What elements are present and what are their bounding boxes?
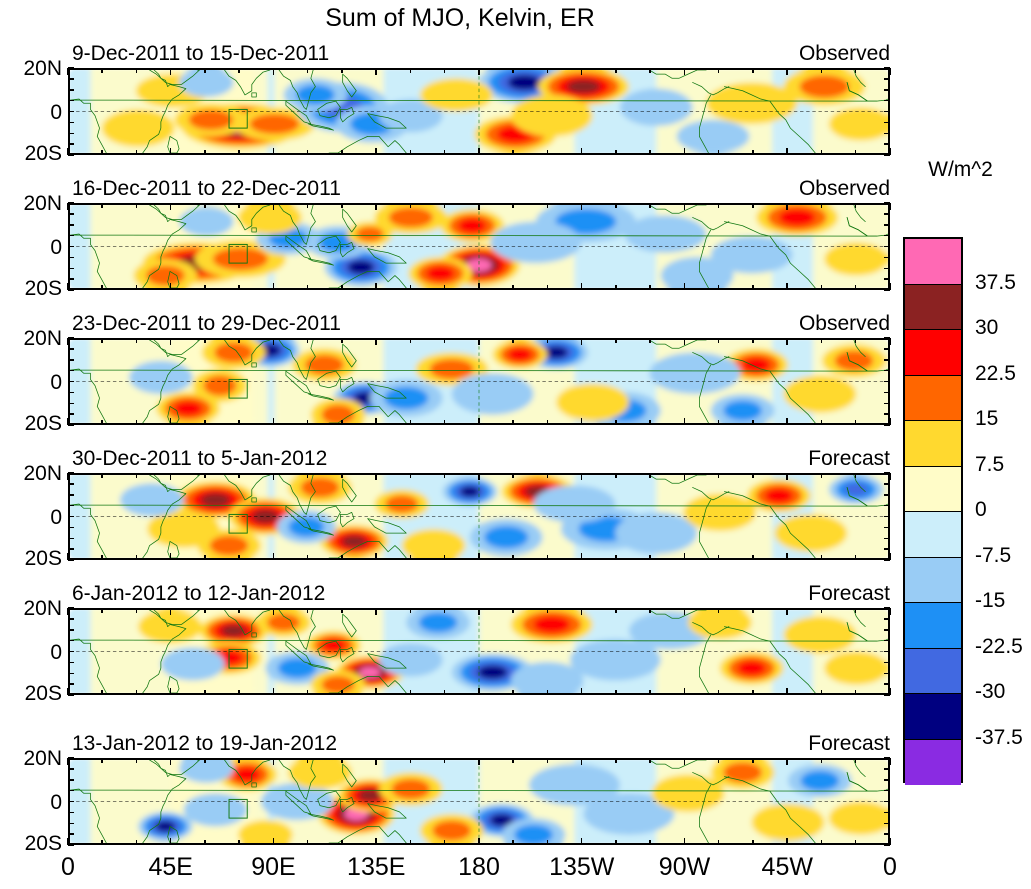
axis-tick xyxy=(341,555,343,560)
axis-tick xyxy=(855,203,857,208)
axis-tick xyxy=(68,268,74,270)
axis-tick xyxy=(512,608,514,613)
axis-tick xyxy=(238,608,240,613)
axis-tick xyxy=(68,100,74,102)
axis-tick xyxy=(512,473,514,478)
axis-tick xyxy=(884,289,890,291)
axis-tick xyxy=(68,370,74,372)
colorbar xyxy=(903,237,963,783)
axis-tick xyxy=(547,840,549,845)
y-axis-tick-label: 20S xyxy=(25,833,62,854)
axis-tick xyxy=(884,694,890,696)
axis-tick xyxy=(684,553,686,560)
axis-tick xyxy=(752,68,754,73)
axis-tick xyxy=(752,473,754,478)
axis-tick xyxy=(341,68,343,73)
axis-tick xyxy=(136,285,138,290)
axis-tick xyxy=(68,213,74,215)
axis-tick xyxy=(68,779,74,781)
axis-tick xyxy=(884,78,890,80)
axis-tick xyxy=(67,758,69,765)
axis-tick xyxy=(884,246,890,248)
x-axis-tick-label: 180 xyxy=(434,855,524,880)
axis-tick xyxy=(273,148,275,155)
axis-tick xyxy=(375,688,377,695)
axis-tick xyxy=(884,662,890,664)
axis-tick xyxy=(101,203,103,208)
axis-tick xyxy=(649,203,651,208)
axis-tick xyxy=(273,418,275,425)
axis-tick xyxy=(649,555,651,560)
map-plot-area xyxy=(68,203,890,290)
axis-tick xyxy=(68,801,74,803)
x-axis-tick-label: 135E xyxy=(331,855,421,880)
axis-tick xyxy=(307,68,309,73)
panel-period-label: 6-Jan-2012 to 12-Jan-2012 xyxy=(72,583,325,604)
axis-tick xyxy=(684,148,686,155)
axis-tick xyxy=(307,473,309,478)
axis-tick xyxy=(68,246,74,248)
y-axis-tick-label: 20N xyxy=(23,328,62,349)
axis-tick xyxy=(307,555,309,560)
axis-tick xyxy=(855,338,857,343)
axis-tick xyxy=(855,420,857,425)
axis-tick xyxy=(718,203,720,208)
axis-tick xyxy=(170,68,172,75)
axis-tick xyxy=(375,473,377,480)
x-axis-tick-label: 90E xyxy=(229,855,319,880)
axis-tick xyxy=(444,840,446,845)
axis-tick xyxy=(410,690,412,695)
axis-tick xyxy=(718,68,720,73)
axis-tick xyxy=(547,555,549,560)
panel-period-label: 30-Dec-2011 to 5-Jan-2012 xyxy=(72,448,327,469)
axis-tick xyxy=(884,278,890,280)
axis-tick xyxy=(341,690,343,695)
axis-tick xyxy=(884,122,890,124)
axis-tick xyxy=(68,337,74,339)
axis-tick xyxy=(649,608,651,613)
axis-tick xyxy=(410,338,412,343)
axis-tick xyxy=(752,608,754,613)
axis-tick xyxy=(68,403,74,405)
axis-tick xyxy=(341,338,343,343)
colorbar-tick-label: -22.5 xyxy=(975,636,1023,657)
axis-tick xyxy=(68,257,74,259)
axis-tick xyxy=(718,150,720,155)
colorbar-tick-label: -7.5 xyxy=(975,545,1011,566)
axis-tick xyxy=(855,608,857,613)
axis-tick xyxy=(273,473,275,480)
colorbar-tick-label: -15 xyxy=(975,590,1005,611)
axis-tick xyxy=(444,203,446,208)
axis-tick xyxy=(478,148,480,155)
axis-tick xyxy=(170,148,172,155)
axis-tick xyxy=(101,68,103,73)
axis-tick xyxy=(889,608,891,615)
axis-tick xyxy=(307,338,309,343)
axis-tick xyxy=(170,338,172,345)
axis-tick xyxy=(512,285,514,290)
axis-tick xyxy=(684,758,686,765)
axis-tick xyxy=(238,150,240,155)
axis-tick xyxy=(884,607,890,609)
axis-tick xyxy=(101,150,103,155)
axis-tick xyxy=(101,608,103,613)
axis-tick xyxy=(170,418,172,425)
y-axis-tick-label: 20S xyxy=(25,548,62,569)
axis-tick xyxy=(68,67,74,69)
panel-status-label: Observed xyxy=(760,313,890,334)
panel-status-label: Observed xyxy=(760,178,890,199)
y-axis-tick-label: 20N xyxy=(23,748,62,769)
axis-tick xyxy=(581,473,583,480)
colorbar-band xyxy=(905,239,961,285)
colorbar-band xyxy=(905,330,961,376)
axis-tick xyxy=(889,473,891,480)
axis-tick xyxy=(444,285,446,290)
panel-status-label: Observed xyxy=(760,43,890,64)
axis-tick xyxy=(101,285,103,290)
axis-tick xyxy=(341,758,343,763)
axis-tick xyxy=(786,418,788,425)
colorbar-band xyxy=(905,421,961,467)
axis-tick xyxy=(238,420,240,425)
axis-tick xyxy=(478,473,480,480)
axis-tick xyxy=(718,608,720,613)
axis-tick xyxy=(238,690,240,695)
axis-tick xyxy=(238,758,240,763)
axis-tick xyxy=(136,203,138,208)
axis-tick xyxy=(615,68,617,73)
x-axis-tick-label: 0 xyxy=(23,855,113,880)
axis-tick xyxy=(204,68,206,73)
axis-tick xyxy=(68,359,74,361)
axis-tick xyxy=(684,338,686,345)
axis-tick xyxy=(204,420,206,425)
axis-tick xyxy=(581,68,583,75)
axis-tick xyxy=(718,555,720,560)
y-axis-tick-label: 0 xyxy=(50,372,62,393)
axis-tick xyxy=(68,413,74,415)
axis-tick xyxy=(410,555,412,560)
colorbar-tick-label: 22.5 xyxy=(975,363,1016,384)
axis-tick xyxy=(478,758,480,765)
axis-tick xyxy=(170,838,172,845)
axis-tick xyxy=(884,494,890,496)
axis-tick xyxy=(341,420,343,425)
map-panel xyxy=(68,758,890,845)
axis-tick xyxy=(444,473,446,478)
axis-tick xyxy=(307,690,309,695)
axis-tick xyxy=(884,348,890,350)
axis-tick xyxy=(273,688,275,695)
axis-tick xyxy=(884,812,890,814)
axis-tick xyxy=(68,683,74,685)
axis-tick xyxy=(855,840,857,845)
y-axis-tick-label: 0 xyxy=(50,237,62,258)
axis-tick xyxy=(649,338,651,343)
axis-tick xyxy=(884,823,890,825)
axis-tick xyxy=(375,203,377,210)
axis-tick xyxy=(410,608,412,613)
axis-tick xyxy=(68,538,74,540)
axis-tick xyxy=(884,403,890,405)
axis-tick xyxy=(786,473,788,480)
map-plot-area xyxy=(68,608,890,695)
axis-tick xyxy=(68,289,74,291)
y-axis-tick-label: 20N xyxy=(23,58,62,79)
axis-tick xyxy=(547,608,549,613)
axis-tick xyxy=(68,494,74,496)
axis-tick xyxy=(478,838,480,845)
axis-tick xyxy=(547,420,549,425)
axis-tick xyxy=(101,420,103,425)
figure-root: Sum of MJO, Kelvin, ER xyxy=(0,0,1031,889)
y-axis-tick-label: 20N xyxy=(23,463,62,484)
panel-period-label: 23-Dec-2011 to 29-Dec-2011 xyxy=(72,313,341,334)
axis-tick xyxy=(821,420,823,425)
axis-tick xyxy=(273,338,275,345)
axis-tick xyxy=(649,285,651,290)
axis-tick xyxy=(375,553,377,560)
colorbar-tick-label: 15 xyxy=(975,408,998,429)
axis-tick xyxy=(884,559,890,561)
colorbar-band xyxy=(905,376,961,422)
axis-tick xyxy=(375,418,377,425)
axis-tick xyxy=(478,418,480,425)
colorbar-band xyxy=(905,649,961,695)
axis-tick xyxy=(884,213,890,215)
axis-tick xyxy=(204,473,206,478)
axis-tick xyxy=(547,285,549,290)
axis-tick xyxy=(170,203,172,210)
axis-tick xyxy=(307,150,309,155)
axis-tick xyxy=(307,840,309,845)
axis-tick xyxy=(68,224,74,226)
axis-tick xyxy=(375,338,377,345)
axis-tick xyxy=(786,838,788,845)
axis-tick xyxy=(718,420,720,425)
axis-tick xyxy=(341,473,343,478)
axis-tick xyxy=(547,338,549,343)
axis-tick xyxy=(67,473,69,480)
y-axis-tick-label: 20S xyxy=(25,413,62,434)
axis-tick xyxy=(786,68,788,75)
axis-tick xyxy=(478,283,480,290)
colorbar-band xyxy=(905,694,961,740)
axis-tick xyxy=(547,473,549,478)
axis-tick xyxy=(752,420,754,425)
axis-tick xyxy=(68,662,74,664)
axis-tick xyxy=(101,338,103,343)
axis-tick xyxy=(786,203,788,210)
axis-tick xyxy=(718,338,720,343)
x-axis-tick-label: 45E xyxy=(126,855,216,880)
axis-tick xyxy=(68,694,74,696)
axis-tick xyxy=(884,640,890,642)
axis-tick xyxy=(821,473,823,478)
axis-tick xyxy=(68,348,74,350)
axis-tick xyxy=(68,381,74,383)
axis-tick xyxy=(884,370,890,372)
axis-tick xyxy=(444,758,446,763)
axis-tick xyxy=(884,111,890,113)
axis-tick xyxy=(581,338,583,345)
axis-tick xyxy=(478,553,480,560)
axis-tick xyxy=(68,607,74,609)
axis-tick xyxy=(786,758,788,765)
axis-tick xyxy=(136,150,138,155)
axis-tick xyxy=(884,100,890,102)
axis-tick xyxy=(273,68,275,75)
axis-tick xyxy=(170,758,172,765)
axis-tick xyxy=(444,555,446,560)
axis-tick xyxy=(684,688,686,695)
axis-tick xyxy=(512,203,514,208)
axis-tick xyxy=(752,150,754,155)
axis-tick xyxy=(855,68,857,73)
axis-tick xyxy=(204,203,206,208)
axis-tick xyxy=(307,203,309,208)
axis-tick xyxy=(684,203,686,210)
axis-tick xyxy=(884,483,890,485)
axis-tick xyxy=(615,608,617,613)
axis-tick xyxy=(821,840,823,845)
axis-tick xyxy=(238,555,240,560)
axis-tick xyxy=(884,790,890,792)
map-panel xyxy=(68,68,890,155)
axis-tick xyxy=(341,150,343,155)
colorbar-band xyxy=(905,285,961,331)
axis-tick xyxy=(884,801,890,803)
axis-tick xyxy=(68,154,74,156)
axis-tick xyxy=(512,555,514,560)
axis-tick xyxy=(615,473,617,478)
colorbar-band xyxy=(905,558,961,604)
axis-tick xyxy=(889,203,891,210)
axis-tick xyxy=(478,608,480,615)
axis-tick xyxy=(684,283,686,290)
axis-tick xyxy=(67,68,69,75)
axis-tick xyxy=(341,840,343,845)
axis-tick xyxy=(307,608,309,613)
figure-title: Sum of MJO, Kelvin, ER xyxy=(0,4,920,33)
axis-tick xyxy=(410,758,412,763)
axis-tick xyxy=(581,418,583,425)
axis-tick xyxy=(855,690,857,695)
y-axis-tick-label: 0 xyxy=(50,102,62,123)
axis-tick xyxy=(273,203,275,210)
axis-tick xyxy=(752,338,754,343)
axis-tick xyxy=(170,473,172,480)
axis-tick xyxy=(649,840,651,845)
colorbar-band xyxy=(905,740,961,786)
axis-tick xyxy=(136,608,138,613)
map-panel xyxy=(68,608,890,695)
axis-tick xyxy=(444,420,446,425)
axis-tick xyxy=(884,651,890,653)
axis-tick xyxy=(615,758,617,763)
axis-tick xyxy=(786,608,788,615)
axis-tick xyxy=(884,505,890,507)
axis-tick xyxy=(884,683,890,685)
axis-tick xyxy=(341,203,343,208)
axis-tick xyxy=(136,690,138,695)
axis-tick xyxy=(512,150,514,155)
y-axis-tick-label: 0 xyxy=(50,642,62,663)
axis-tick xyxy=(238,68,240,73)
axis-tick xyxy=(821,758,823,763)
y-axis-tick-label: 20N xyxy=(23,598,62,619)
axis-tick xyxy=(68,618,74,620)
axis-tick xyxy=(68,111,74,113)
panel-period-label: 13-Jan-2012 to 19-Jan-2012 xyxy=(72,733,337,754)
axis-tick xyxy=(884,768,890,770)
axis-tick xyxy=(649,420,651,425)
axis-tick xyxy=(581,838,583,845)
axis-tick xyxy=(821,68,823,73)
axis-tick xyxy=(410,68,412,73)
axis-tick xyxy=(547,68,549,73)
panel-period-label: 9-Dec-2011 to 15-Dec-2011 xyxy=(72,43,329,64)
axis-tick xyxy=(786,338,788,345)
axis-tick xyxy=(512,690,514,695)
axis-tick xyxy=(821,608,823,613)
axis-tick xyxy=(884,224,890,226)
axis-tick xyxy=(615,420,617,425)
axis-tick xyxy=(718,285,720,290)
axis-tick xyxy=(752,203,754,208)
axis-tick xyxy=(821,203,823,208)
axis-tick xyxy=(884,844,890,846)
colorbar-tick-label: -30 xyxy=(975,681,1005,702)
axis-tick xyxy=(68,516,74,518)
axis-tick xyxy=(512,338,514,343)
axis-tick xyxy=(649,758,651,763)
axis-tick xyxy=(884,67,890,69)
colorbar-tick-label: 0 xyxy=(975,499,987,520)
axis-tick xyxy=(821,150,823,155)
axis-tick xyxy=(649,473,651,478)
axis-tick xyxy=(204,758,206,763)
axis-tick xyxy=(581,758,583,765)
axis-tick xyxy=(547,758,549,763)
axis-tick xyxy=(581,608,583,615)
axis-tick xyxy=(684,68,686,75)
y-axis-tick-label: 0 xyxy=(50,507,62,528)
axis-tick xyxy=(884,527,890,529)
panel-status-label: Forecast xyxy=(760,733,890,754)
axis-tick xyxy=(68,89,74,91)
axis-tick xyxy=(581,553,583,560)
map-plot-area xyxy=(68,758,890,845)
y-axis-tick-label: 20S xyxy=(25,143,62,164)
map-plot-area xyxy=(68,68,890,155)
map-plot-area xyxy=(68,338,890,425)
axis-tick xyxy=(307,285,309,290)
colorbar-tick-label: 30 xyxy=(975,317,998,338)
axis-tick xyxy=(889,758,891,765)
y-axis-tick-label: 20N xyxy=(23,193,62,214)
axis-tick xyxy=(136,420,138,425)
axis-tick xyxy=(884,538,890,540)
axis-tick xyxy=(375,148,377,155)
axis-tick xyxy=(68,673,74,675)
axis-tick xyxy=(341,285,343,290)
axis-tick xyxy=(512,758,514,763)
axis-tick xyxy=(68,278,74,280)
